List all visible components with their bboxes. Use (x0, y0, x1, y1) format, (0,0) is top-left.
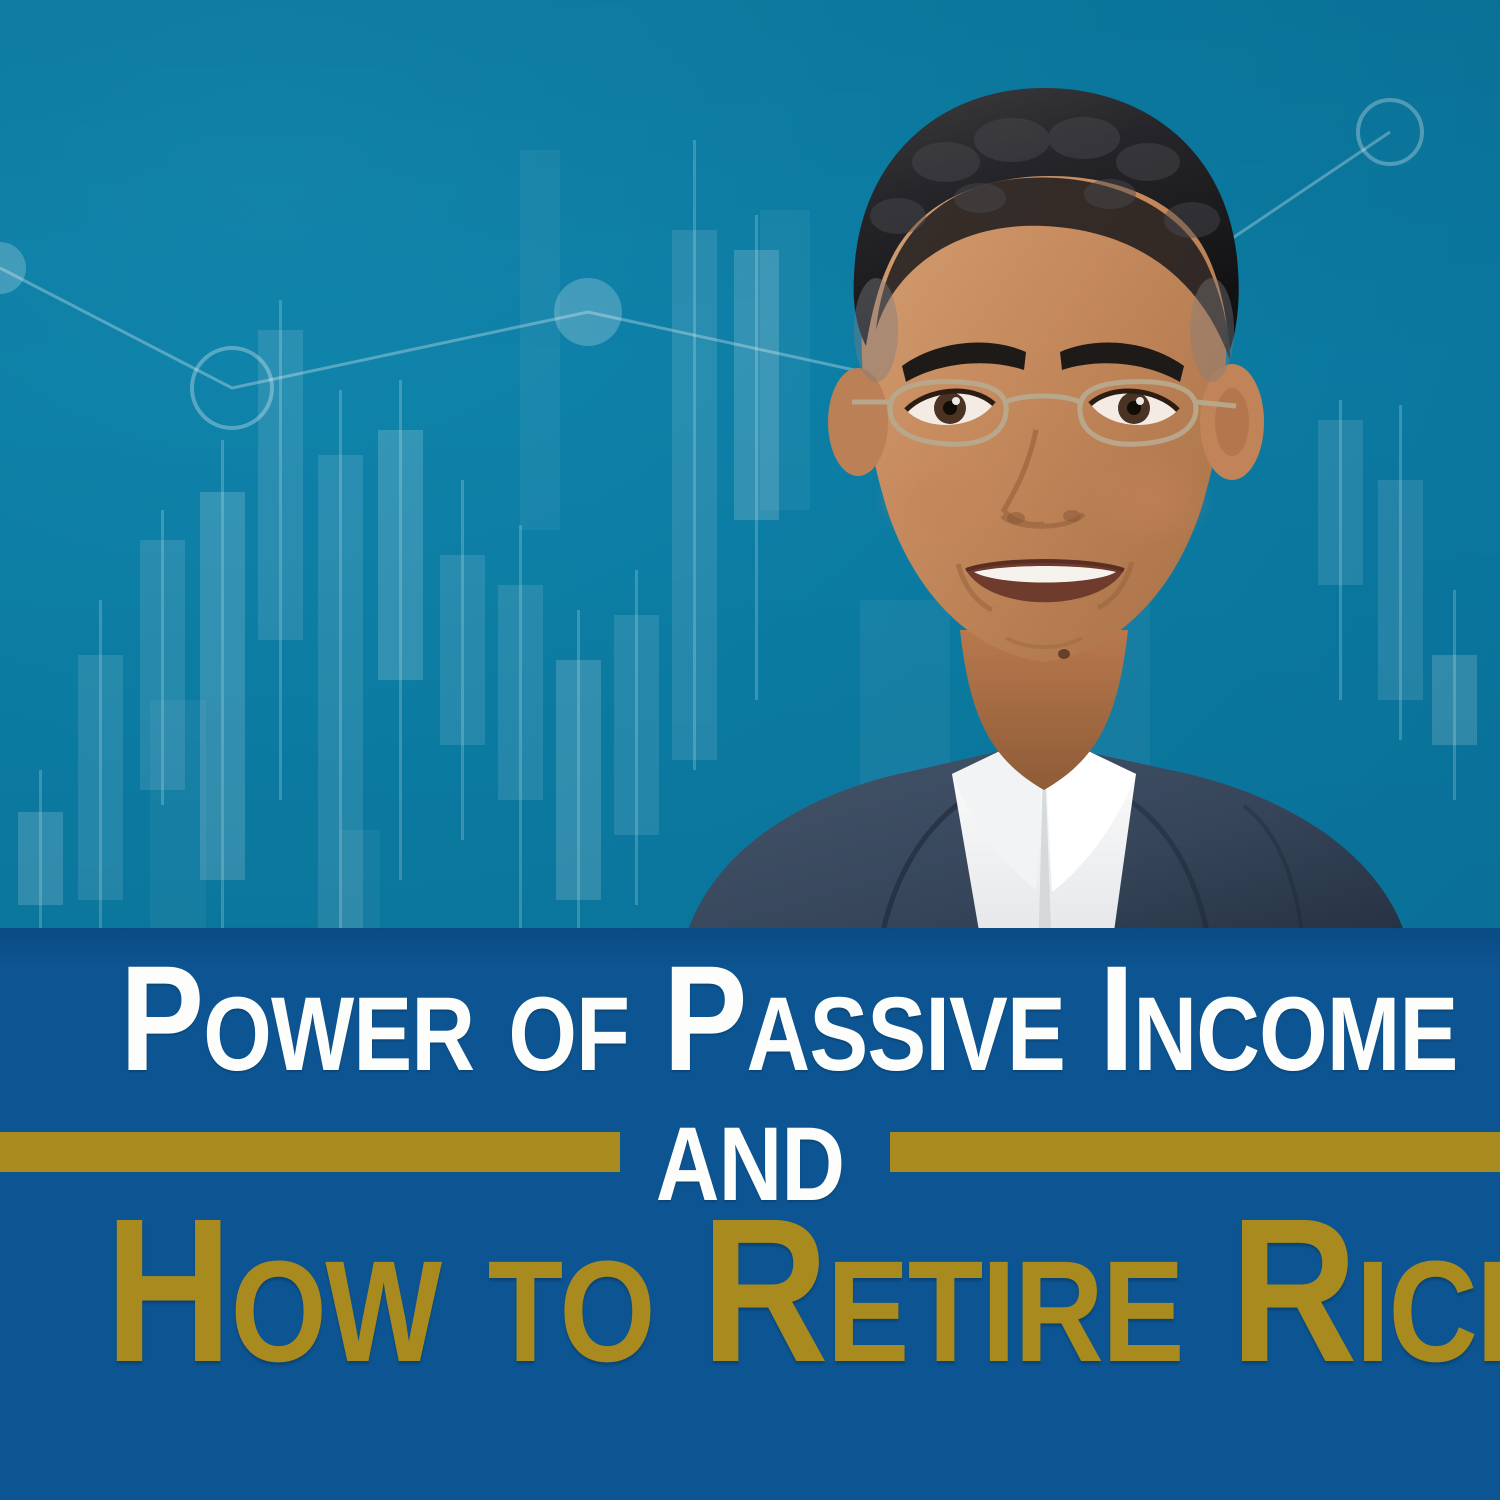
podcast-cover-art: Power of Passive Income and How to Retir… (0, 0, 1500, 1500)
host-portrait-photo (640, 30, 1440, 960)
title-block: Power of Passive Income and How to Retir… (0, 928, 1500, 1500)
title-line-3: How to Retire Rich (105, 1196, 1395, 1386)
title-banner: Power of Passive Income and How to Retir… (0, 928, 1500, 1500)
